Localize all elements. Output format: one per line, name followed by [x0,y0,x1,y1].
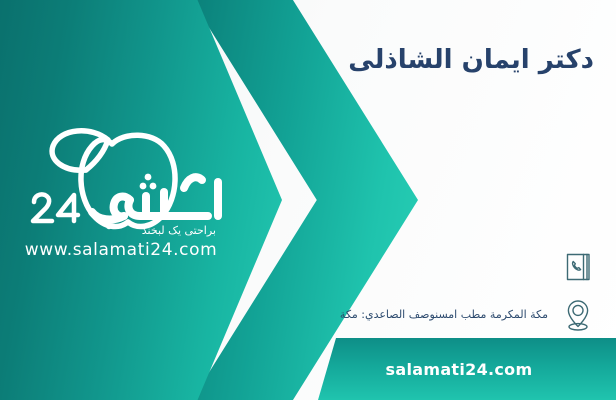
contact-row-address[interactable]: مكة المكرمة مطب امسنوصف الصاعدي: مكة [298,294,598,336]
contact-address-text: مكة المكرمة مطب امسنوصف الصاعدي: مكة [298,308,548,322]
phone-book-icon [558,246,598,288]
location-pin-icon [558,294,598,336]
doctor-name-title: دكتر ايمان الشاذلی [174,44,594,77]
business-card-banner: براحتی یک لبخند www.salamati24.com دكتر … [0,0,616,400]
footer-site-label: salamati24.com [386,360,551,379]
footer-bar[interactable]: salamati24.com [318,338,616,400]
contact-list: مكة المكرمة مطب امسنوصف الصاعدي: مكة [298,246,598,342]
contact-row-phone[interactable] [298,246,598,288]
contact-phone-text [298,267,548,268]
